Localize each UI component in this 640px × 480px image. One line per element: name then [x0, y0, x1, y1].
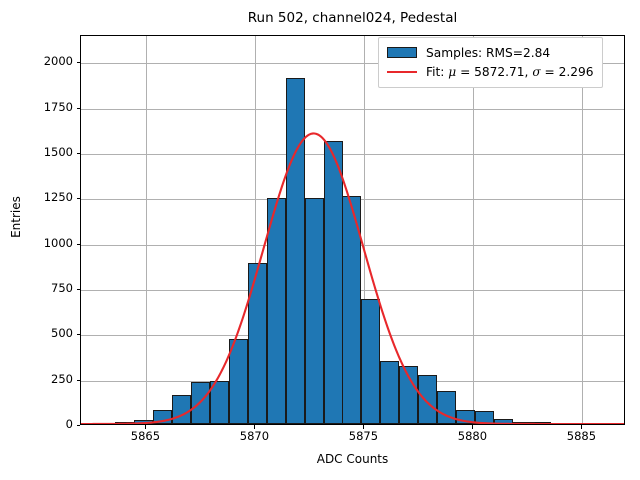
histogram-bar: [475, 411, 494, 424]
y-tick-label: 2000: [13, 56, 73, 67]
histogram-bar: [513, 422, 532, 424]
x-tick-label: 5880: [437, 430, 507, 442]
histogram-bar: [134, 420, 153, 424]
y-tick-label: 500: [13, 328, 73, 339]
histogram-bar: [361, 299, 380, 424]
legend-item-fit: Fit: μ = 5872.71, σ = 2.296: [387, 62, 594, 81]
histogram-bar: [153, 410, 172, 424]
histogram-bar: [210, 381, 229, 424]
gridline-vertical: [146, 36, 147, 424]
x-tick-mark: [145, 425, 146, 429]
histogram-bar: [267, 198, 286, 424]
histogram-bar: [172, 395, 191, 424]
gridline-vertical: [582, 36, 583, 424]
figure-canvas: Run 502, channel024, Pedestal Entries AD…: [0, 0, 640, 480]
x-tick-mark: [254, 425, 255, 429]
legend-fit-mu-symbol: μ: [448, 65, 456, 79]
x-tick-label: 5875: [328, 430, 398, 442]
gridline-horizontal: [81, 109, 624, 110]
y-tick-label: 0: [13, 419, 73, 430]
histogram-bar: [324, 141, 343, 424]
x-axis-label: ADC Counts: [80, 452, 625, 466]
histogram-bar: [456, 410, 475, 425]
legend-label-samples: Samples: RMS=2.84: [426, 46, 550, 60]
histogram-bar: [305, 198, 324, 424]
legend-fit-sigma-symbol: σ: [532, 65, 540, 79]
legend-fit-mu-value: = 5872.71,: [456, 65, 532, 79]
legend-swatch-samples-icon: [387, 47, 417, 58]
y-tick-label: 1250: [13, 192, 73, 203]
chart-title: Run 502, channel024, Pedestal: [80, 10, 625, 26]
chart-legend: Samples: RMS=2.84 Fit: μ = 5872.71, σ = …: [378, 37, 603, 88]
x-tick-mark: [472, 425, 473, 429]
legend-fit-sigma-value: = 2.296: [541, 65, 594, 79]
histogram-bar: [286, 78, 305, 424]
x-tick-label: 5865: [110, 430, 180, 442]
x-tick-mark: [581, 425, 582, 429]
histogram-bar: [437, 391, 456, 424]
gridline-horizontal: [81, 154, 624, 155]
legend-label-fit: Fit: μ = 5872.71, σ = 2.296: [426, 65, 594, 79]
histogram-bar: [532, 422, 551, 424]
histogram-bar: [380, 361, 399, 424]
histogram-bar: [115, 422, 134, 424]
histogram-bar: [342, 196, 361, 424]
histogram-bar: [229, 339, 248, 424]
x-tick-label: 5885: [546, 430, 616, 442]
x-tick-label: 5870: [219, 430, 289, 442]
legend-swatch-fit-icon: [387, 71, 417, 73]
y-tick-label: 1000: [13, 238, 73, 249]
histogram-bar: [418, 375, 437, 424]
histogram-bar: [191, 382, 210, 424]
plot-area: [80, 35, 625, 425]
x-tick-mark: [363, 425, 364, 429]
y-tick-label: 250: [13, 374, 73, 385]
y-tick-mark: [77, 425, 81, 426]
gridline-vertical: [473, 36, 474, 424]
histogram-bar: [494, 419, 513, 424]
y-tick-label: 1750: [13, 102, 73, 113]
histogram-bar: [399, 366, 418, 424]
histogram-bar: [248, 263, 267, 424]
y-tick-label: 750: [13, 283, 73, 294]
legend-item-samples: Samples: RMS=2.84: [387, 43, 594, 62]
y-tick-label: 1500: [13, 147, 73, 158]
legend-fit-prefix: Fit:: [426, 65, 448, 79]
